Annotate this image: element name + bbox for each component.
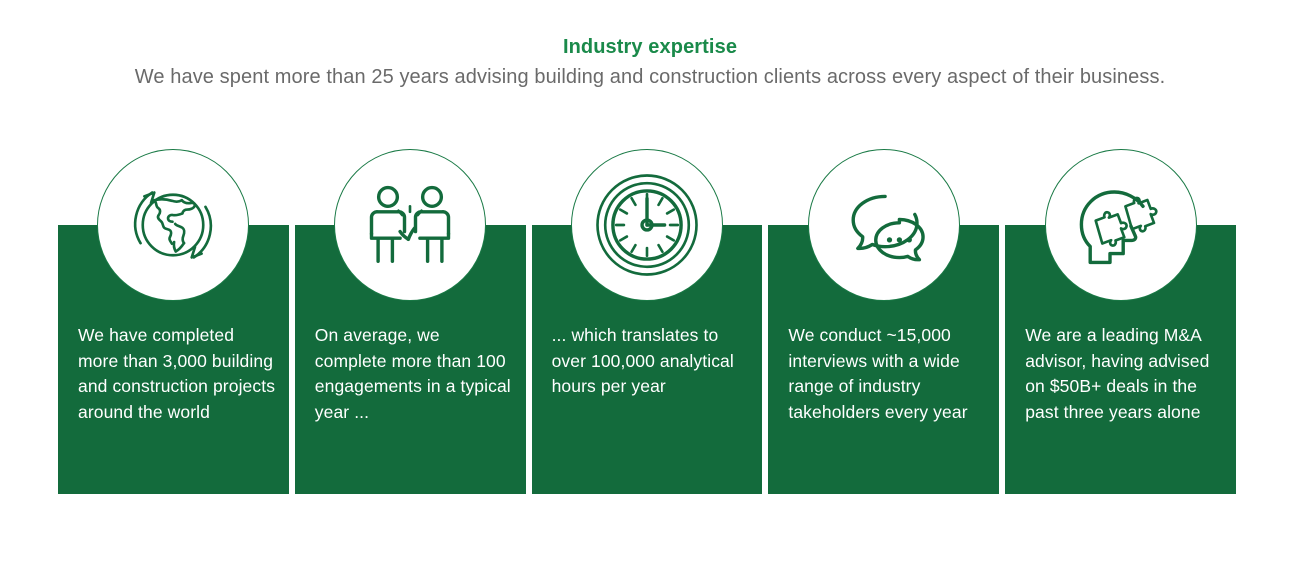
page-subtitle: We have spent more than 25 years advisin… (0, 64, 1300, 92)
card-1-text: We have completed more than 3,000 buildi… (78, 323, 279, 426)
card-3-text: ... which translates to over 100,000 ana… (552, 323, 753, 400)
cards-row: We have completed more than 3,000 buildi… (58, 225, 1236, 494)
card-2: On average, we complete more than 100 en… (295, 225, 526, 494)
card-4-text: We conduct ~15,000 interviews with a wid… (788, 323, 989, 426)
handshake-people-icon (334, 149, 486, 301)
card-2-text: On average, we complete more than 100 en… (315, 323, 516, 426)
globe-refresh-icon (97, 149, 249, 301)
clock-icon (571, 149, 723, 301)
card-5-text: We are a leading M&A advisor, having adv… (1025, 323, 1226, 426)
card-1: We have completed more than 3,000 buildi… (58, 225, 289, 494)
infographic-page: Industry expertise We have spent more th… (0, 0, 1300, 575)
head-puzzle-icon (1045, 149, 1197, 301)
speech-bubbles-icon (808, 149, 960, 301)
card-4: We conduct ~15,000 interviews with a wid… (768, 225, 999, 494)
card-5: We are a leading M&A advisor, having adv… (1005, 225, 1236, 494)
page-title: Industry expertise (0, 36, 1300, 59)
card-3: ... which translates to over 100,000 ana… (532, 225, 763, 494)
header: Industry expertise We have spent more th… (0, 36, 1300, 92)
